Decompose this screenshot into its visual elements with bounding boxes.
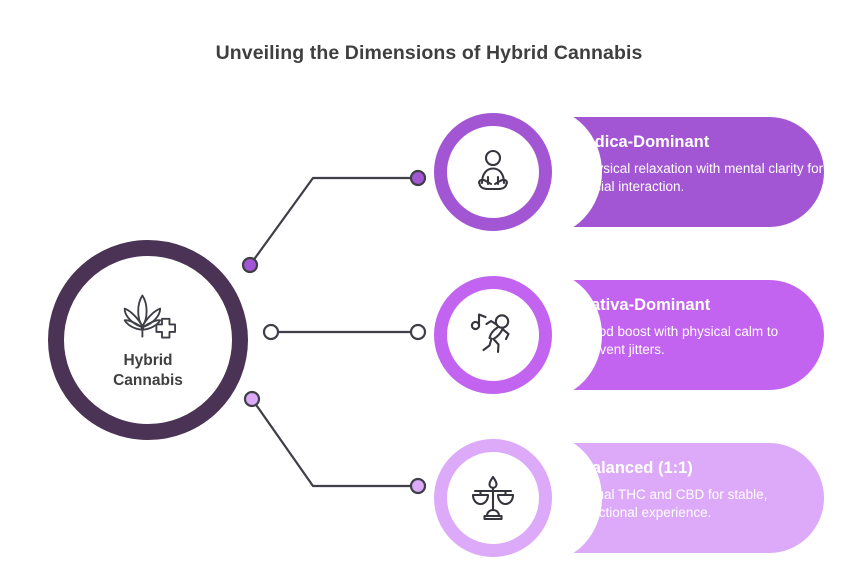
person-meditating-icon: [467, 146, 519, 198]
connector-path-1: [250, 178, 414, 265]
branch-balanced[interactable]: Balanced (1:1) Equal THC and CBD for sta…: [434, 439, 824, 557]
icon-ring-balanced: [434, 439, 552, 557]
connector-node-card-1: [411, 171, 425, 185]
connector-node-hub-2: [264, 325, 278, 339]
card-text-sativa: Sativa-Dominant Mood boost with physical…: [580, 296, 824, 360]
branch-sativa-dominant[interactable]: Sativa-Dominant Mood boost with physical…: [434, 276, 824, 394]
infographic-canvas: Unveiling the Dimensions of Hybrid Canna…: [0, 0, 858, 574]
connector-node-card-2: [411, 325, 425, 339]
connector-node-hub-3: [245, 392, 259, 406]
branch-indica-dominant[interactable]: Indica-Dominant Physical relaxation with…: [434, 113, 824, 231]
person-dancing-music-note-icon: [467, 309, 519, 361]
card-description-indica: Physical relaxation with mental clarity …: [580, 160, 824, 197]
hub-node[interactable]: Hybrid Cannabis: [48, 240, 248, 440]
connector-node-hub-1: [243, 258, 257, 272]
card-text-balanced: Balanced (1:1) Equal THC and CBD for sta…: [580, 459, 824, 523]
card-heading-sativa: Sativa-Dominant: [580, 296, 824, 316]
hub-label: Hybrid Cannabis: [113, 351, 183, 391]
card-text-indica: Indica-Dominant Physical relaxation with…: [580, 133, 824, 197]
connector-path-3: [252, 399, 414, 486]
card-heading-indica: Indica-Dominant: [580, 133, 824, 153]
card-description-balanced: Equal THC and CBD for stable, functional…: [580, 486, 824, 523]
card-heading-balanced: Balanced (1:1): [580, 459, 824, 479]
connector-node-card-3: [411, 479, 425, 493]
card-description-sativa: Mood boost with physical calm to prevent…: [580, 323, 824, 360]
balance-scales-icon: [467, 472, 519, 524]
icon-ring-indica: [434, 113, 552, 231]
icon-ring-sativa: [434, 276, 552, 394]
cannabis-leaf-medical-cross-icon: [118, 289, 178, 345]
